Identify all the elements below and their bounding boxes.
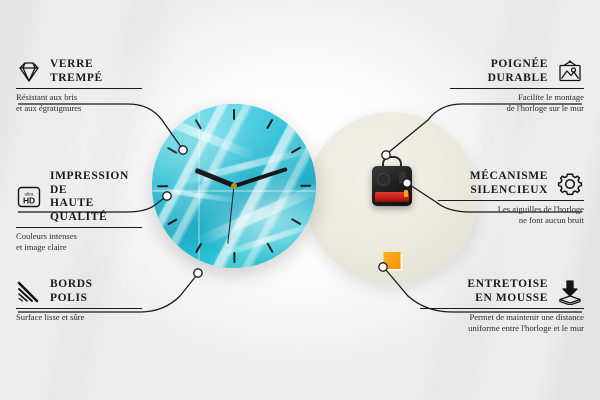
feature-description: Facilite le montage de l'horloge sur le …: [450, 92, 584, 113]
ultra-hd-icon: ultra HD: [16, 185, 42, 209]
feature-divider: [16, 308, 142, 309]
feature-header: ultra HD IMPRESSION DE HAUTE QUALITÉ: [16, 170, 142, 224]
feature-header: POIGNÉE DURABLE: [450, 58, 584, 85]
mechanism-switch: [399, 172, 406, 183]
polished-edges-icon: [16, 281, 42, 303]
hour-tick: [233, 252, 235, 263]
feature-header: BORDS POLIS: [16, 278, 142, 305]
foam-spacer-icon: [556, 279, 584, 305]
feature-title: IMPRESSION DE HAUTE QUALITÉ: [50, 170, 142, 224]
print-seam-horizontal: [152, 190, 316, 192]
gear-icon: [556, 171, 584, 197]
hanging-frame-icon: [556, 60, 584, 84]
feature-description: Résistant aux bris et aux égratignures: [16, 92, 142, 113]
feature-entretoise-en-mousse[interactable]: ENTRETOISE EN MOUSSE Permet de maintenir…: [420, 278, 584, 333]
feature-title: MÉCANISME SILENCIEUX: [438, 170, 548, 197]
diamond-icon: [16, 61, 42, 83]
feature-poignee-durable[interactable]: POIGNÉE DURABLE Facilite le montage de l…: [450, 58, 584, 113]
feature-title: POIGNÉE DURABLE: [450, 58, 548, 85]
feature-header: VERRE TREMPÉ: [16, 58, 142, 85]
feature-impression-haute-qualite[interactable]: ultra HD IMPRESSION DE HAUTE QUALITÉ Cou…: [16, 170, 142, 252]
hand-center-cap: [231, 183, 237, 189]
feature-header: ENTRETOISE EN MOUSSE: [420, 278, 584, 305]
feature-description: Couleurs intenses et image claire: [16, 231, 142, 252]
feature-divider: [16, 227, 142, 228]
foam-spacer: [384, 252, 401, 269]
svg-text:HD: HD: [23, 196, 35, 206]
clock-front-view: [152, 104, 316, 268]
hour-tick: [157, 185, 168, 187]
feature-description: Surface lisse et sûre: [16, 312, 142, 323]
feature-bords-polis[interactable]: BORDS POLIS Surface lisse et sûre: [16, 278, 142, 323]
feature-description: Les aiguilles de l'horloge ne font aucun…: [438, 204, 584, 225]
feature-description: Permet de maintenir une distance uniform…: [420, 312, 584, 333]
battery-terminal: [404, 190, 408, 197]
feature-divider: [438, 200, 584, 201]
mechanism-dial: [377, 173, 390, 186]
product-infographic: VERRE TREMPÉ Résistant aux bris et aux é…: [0, 0, 600, 400]
feature-divider: [420, 308, 584, 309]
feature-title: BORDS POLIS: [50, 278, 93, 305]
feature-verre-trempe[interactable]: VERRE TREMPÉ Résistant aux bris et aux é…: [16, 58, 142, 113]
feature-title: ENTRETOISE EN MOUSSE: [420, 278, 548, 305]
battery: [375, 192, 409, 202]
feature-header: MÉCANISME SILENCIEUX: [438, 170, 584, 197]
feature-mecanisme-silencieux[interactable]: MÉCANISME SILENCIEUX Les aiguilles de l'…: [438, 170, 584, 225]
feature-divider: [16, 88, 142, 89]
feature-divider: [450, 88, 584, 89]
feature-title: VERRE TREMPÉ: [50, 58, 103, 85]
clock-mechanism: [372, 166, 412, 206]
